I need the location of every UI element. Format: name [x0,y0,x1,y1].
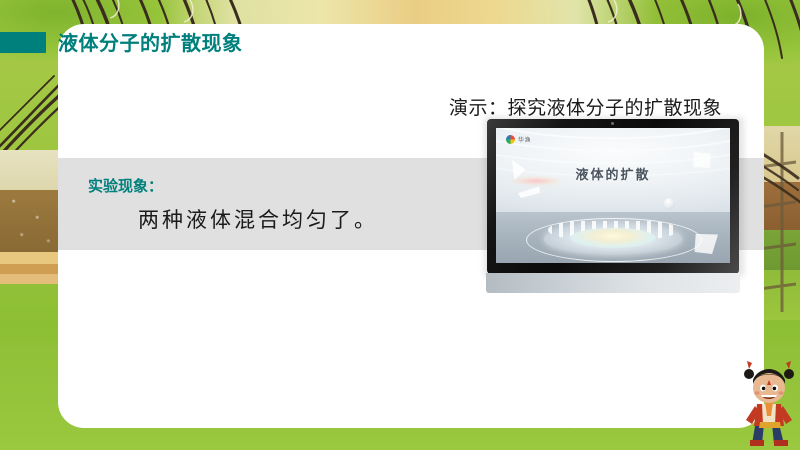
nezha-mascot-icon [740,358,798,446]
video-logo-text: 华渔 [518,135,531,144]
background-band-sand-left [0,252,62,264]
experiment-label: 实验现象： [88,175,163,196]
background-band-ochre-left [0,264,62,274]
monitor-screen[interactable]: 液体的扩散 华渔 [496,128,730,263]
title-accent-bar [0,32,46,53]
demo-caption: 演示：探究液体分子的扩散现象 [449,93,722,120]
slide-canvas: 液体分子的扩散现象 演示：探究液体分子的扩散现象 实验现象： 两种液体混合均匀了… [0,0,800,450]
video-scene-sphere [664,198,675,209]
background-band-brown-left [0,190,62,252]
background-band-tan-left [0,274,62,284]
background-band-cream-left [0,150,62,190]
video-scene-title: 液体的扩散 [496,164,730,183]
timestamp-watermark: 2026/3/17 20:40:18 [561,412,678,428]
video-thumbnail[interactable]: 液体的扩散 华渔 [487,119,743,294]
color-wheel-icon [506,135,515,144]
video-logo: 华渔 [506,135,531,144]
video-stage-core [570,228,656,248]
monitor-stand [486,273,740,293]
experiment-result-text: 两种液体混合均匀了。 [138,204,378,234]
page-title: 液体分子的扩散现象 [58,27,243,56]
webcam-dot-icon [611,122,614,125]
